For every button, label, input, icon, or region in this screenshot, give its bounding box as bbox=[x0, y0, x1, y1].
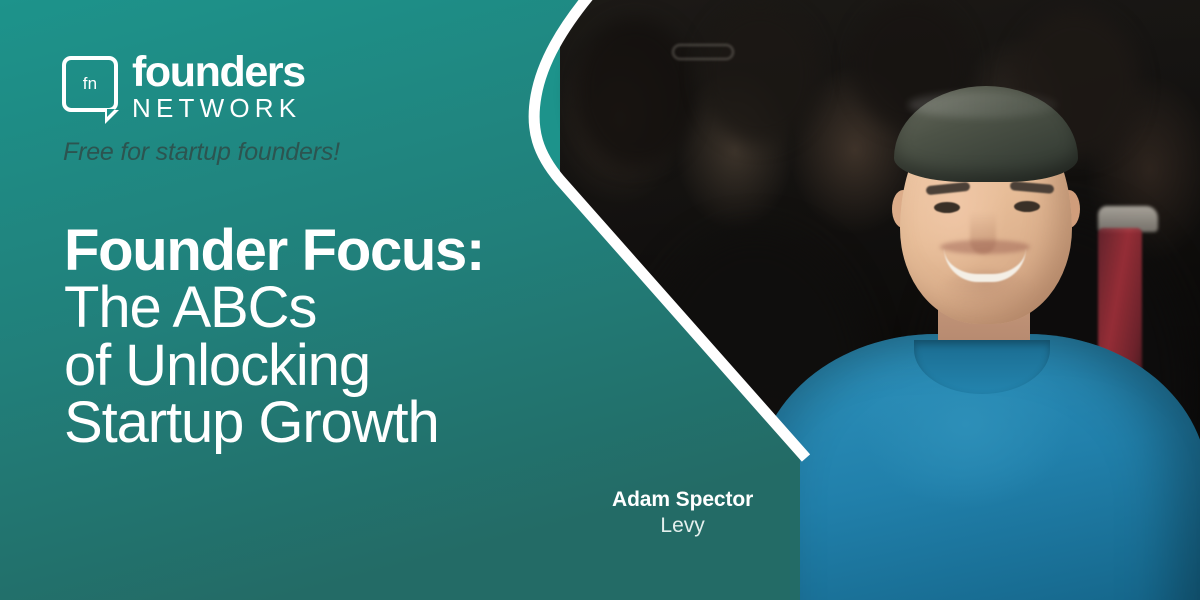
logo-wordmark-secondary: NETWORK bbox=[132, 94, 305, 124]
speaker-credit: Adam Spector Levy bbox=[612, 488, 753, 538]
headline-line-2: The ABCs bbox=[64, 279, 604, 336]
logo-wordmark-primary: founders bbox=[132, 52, 305, 93]
tagline: Free for startup founders! bbox=[63, 138, 340, 167]
event-headline: Founder Focus: The ABCs of Unlocking Sta… bbox=[64, 222, 604, 452]
speaker-organization: Levy bbox=[612, 514, 753, 538]
event-banner: fn founders NETWORK Free for startup fou… bbox=[0, 0, 1200, 600]
founders-network-logo[interactable]: fn founders NETWORK bbox=[62, 52, 305, 124]
content-layer: fn founders NETWORK Free for startup fou… bbox=[0, 0, 1200, 600]
headline-line-1: Founder Focus: bbox=[64, 222, 604, 279]
logo-mark-text: fn bbox=[62, 56, 118, 112]
speaker-name: Adam Spector bbox=[612, 488, 753, 512]
headline-line-3: of Unlocking bbox=[64, 337, 604, 394]
headline-line-4: Startup Growth bbox=[64, 394, 604, 451]
fn-speech-bubble-icon: fn bbox=[62, 56, 118, 112]
